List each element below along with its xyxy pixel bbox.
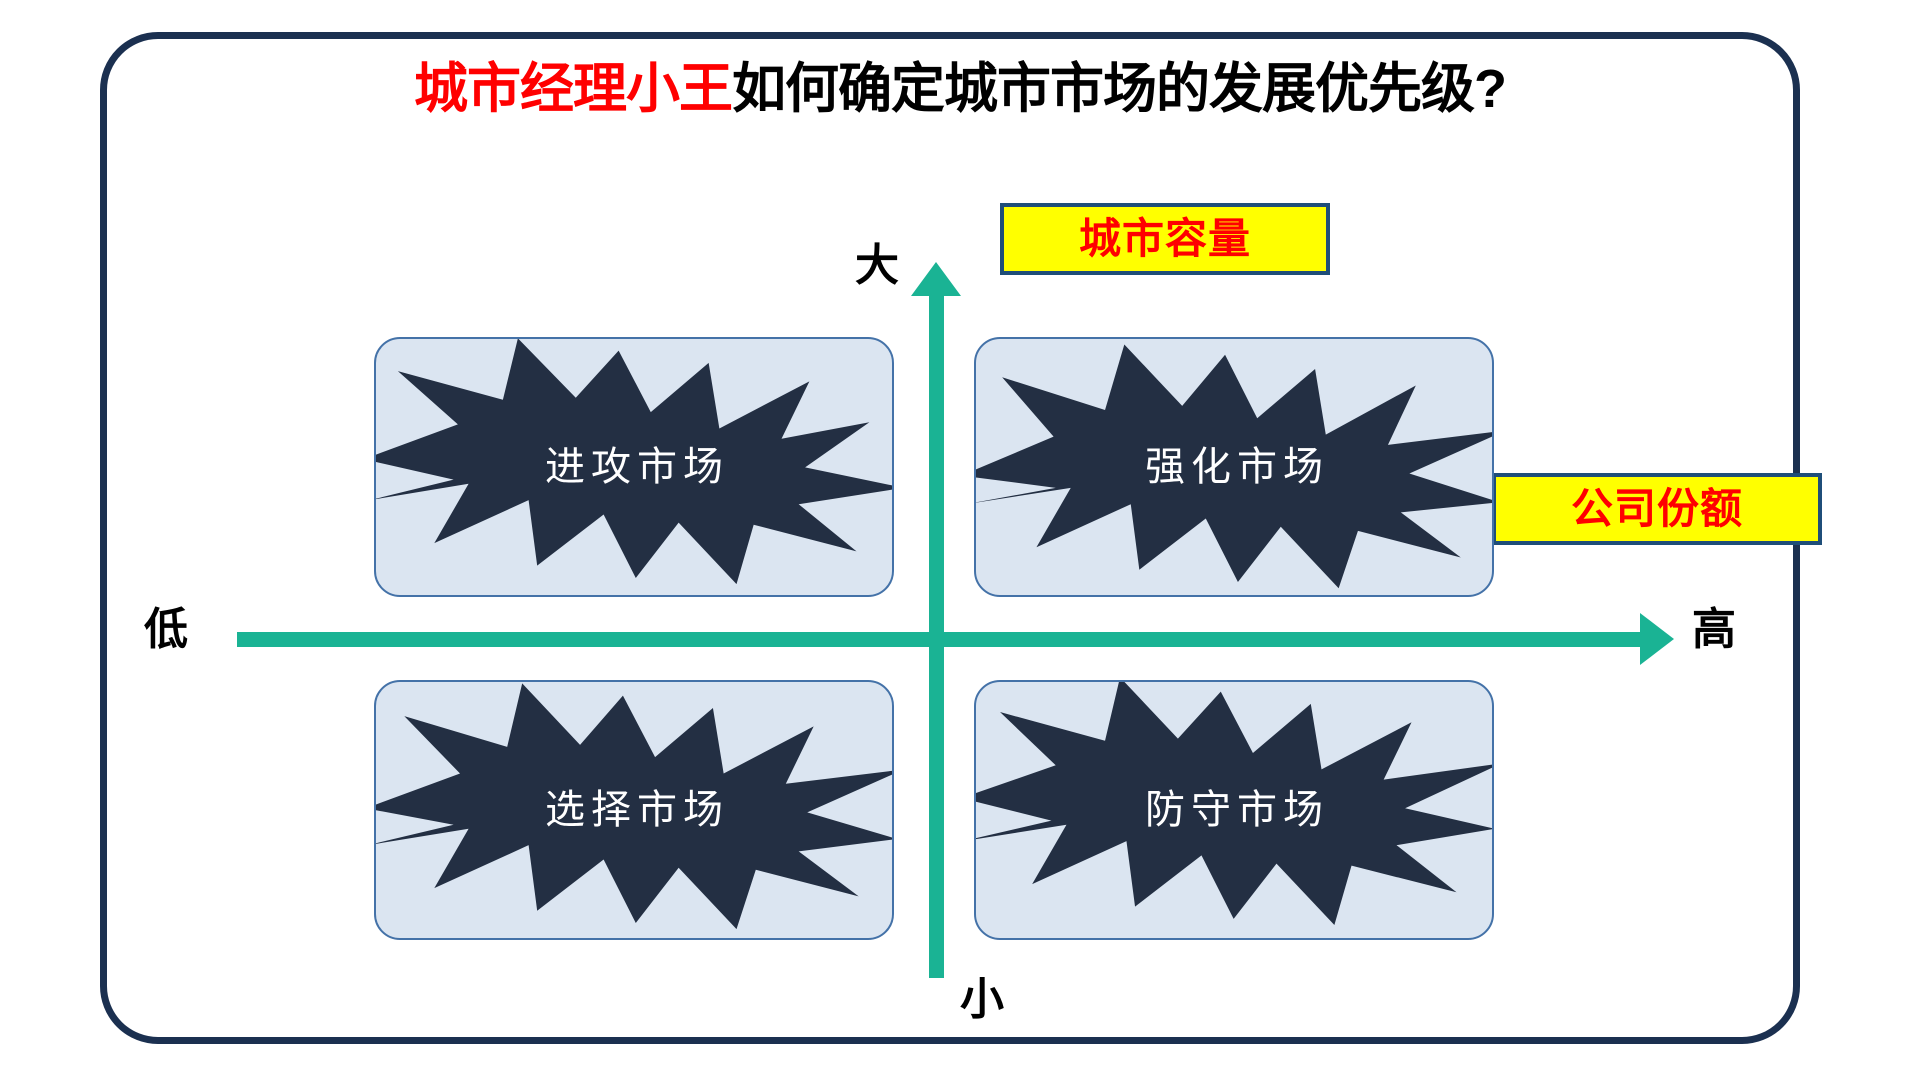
page-title: 城市经理小王如何确定城市市场的发展优先级?	[0, 62, 1920, 116]
vertical-axis-arrow-icon	[911, 262, 961, 296]
quadrant-card-top-left[interactable]: 进攻市场	[374, 337, 894, 597]
quadrant-label-top-left: 进攻市场	[376, 447, 892, 487]
axis-title-city-capacity: 城市容量	[1000, 203, 1330, 275]
title-rest: 如何确定城市市场的发展优先级?	[732, 59, 1506, 119]
axis-label-vertical-low: 小	[960, 978, 1004, 1022]
slide-canvas: 城市经理小王如何确定城市市场的发展优先级? 大 小 低 高 城市容量 公司份额 …	[0, 0, 1920, 1080]
axis-label-horizontal-high: 高	[1692, 608, 1736, 652]
quadrant-label-bottom-left: 选择市场	[376, 790, 892, 830]
axis-label-vertical-high: 大	[855, 244, 899, 288]
horizontal-axis-line	[237, 632, 1647, 647]
quadrant-card-top-right[interactable]: 强化市场	[974, 337, 1494, 597]
horizontal-axis-arrow-icon	[1640, 613, 1674, 665]
title-highlight: 城市经理小王	[414, 59, 732, 119]
axis-label-horizontal-low: 低	[144, 608, 188, 652]
quadrant-card-bottom-right[interactable]: 防守市场	[974, 680, 1494, 940]
quadrant-label-bottom-right: 防守市场	[976, 790, 1492, 830]
quadrant-label-top-right: 强化市场	[976, 447, 1492, 487]
quadrant-card-bottom-left[interactable]: 选择市场	[374, 680, 894, 940]
axis-title-company-share: 公司份额	[1492, 473, 1822, 545]
